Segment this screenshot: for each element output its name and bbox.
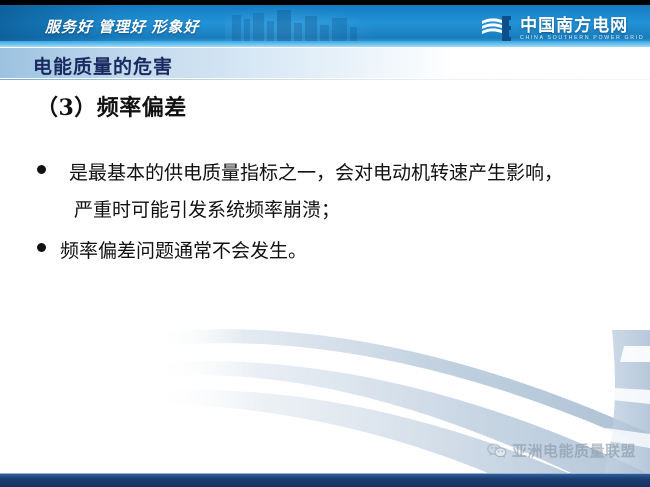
page-title: 电能质量的危害 <box>33 52 173 79</box>
footer-watermark: 亚洲电能质量联盟 <box>487 440 636 461</box>
header-bottom-strip <box>0 41 650 47</box>
bullet-line: 严重时可能引发系统频率崩溃； <box>60 192 632 229</box>
logo-text-block: 中国南方电网 CHINA SOUTHERN POWER GRID <box>520 17 642 41</box>
logo-name-cn: 中国南方电网 <box>520 17 628 34</box>
header-slogan: 服务好 管理好 形象好 <box>45 16 199 37</box>
list-item: 是最基本的供电质量指标之一，会对电动机转速产生影响， 严重时可能引发系统频率崩溃… <box>32 155 632 229</box>
power-grid-logo-icon <box>480 15 514 43</box>
bullet-list: 是最基本的供电质量指标之一，会对电动机转速产生影响， 严重时可能引发系统频率崩溃… <box>32 155 632 274</box>
presentation-slide: 服务好 管理好 形象好 中国南方电网 CHINA SOUTHERN POWER … <box>0 0 650 487</box>
title-underline <box>0 79 650 80</box>
bullet-line: 是最基本的供电质量指标之一，会对电动机转速产生影响， <box>60 155 632 192</box>
wechat-icon <box>487 443 507 459</box>
bullet-line: 频率偏差问题通常不会发生。 <box>60 233 632 270</box>
section-subtitle: （3）频率偏差 <box>36 90 187 122</box>
list-item: 频率偏差问题通常不会发生。 <box>32 233 632 270</box>
bullet-dot-icon <box>37 243 46 252</box>
bullet-dot-icon <box>37 165 46 174</box>
watermark-label: 亚洲电能质量联盟 <box>512 440 636 461</box>
header-banner: 服务好 管理好 形象好 中国南方电网 CHINA SOUTHERN POWER … <box>0 5 650 47</box>
bottom-bar <box>0 473 650 487</box>
